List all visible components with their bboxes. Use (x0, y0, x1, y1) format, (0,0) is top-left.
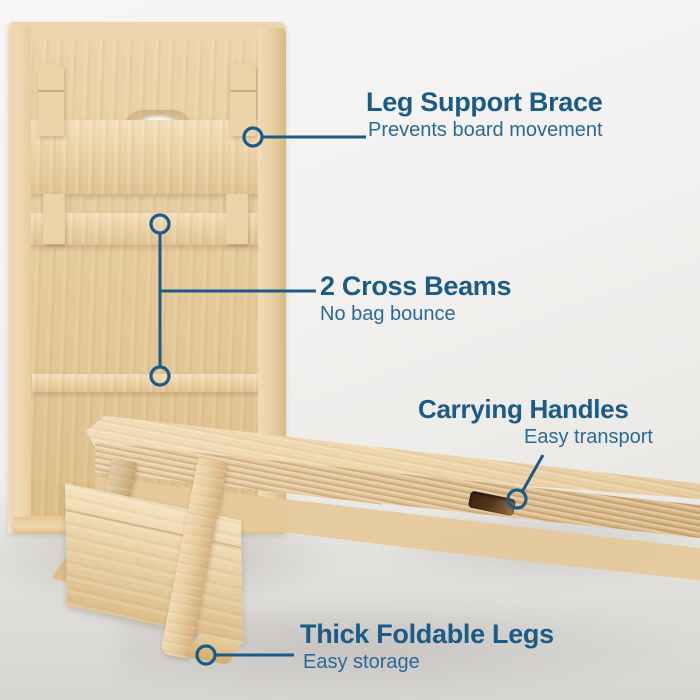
callout-carrying-handles: Carrying Handles Easy transport (418, 396, 653, 449)
callout-title-carrying-handles: Carrying Handles (418, 396, 653, 423)
product-feature-image: Leg Support Brace Prevents board movemen… (0, 0, 700, 700)
callout-title-leg-support-brace: Leg Support Brace (366, 88, 603, 116)
callout-subtitle-carrying-handles: Easy transport (524, 426, 653, 449)
callout-title-foldable-legs: Thick Foldable Legs (300, 620, 554, 648)
callout-foldable-legs: Thick Foldable Legs Easy storage (300, 620, 554, 674)
callout-subtitle-foldable-legs: Easy storage (303, 651, 554, 674)
callout-title-cross-beams: 2 Cross Beams (320, 272, 511, 300)
callout-leg-support-brace: Leg Support Brace Prevents board movemen… (366, 88, 603, 142)
callout-subtitle-cross-beams: No bag bounce (320, 303, 511, 326)
callout-cross-beams: 2 Cross Beams No bag bounce (320, 272, 511, 326)
callout-subtitle-leg-support-brace: Prevents board movement (368, 119, 603, 142)
